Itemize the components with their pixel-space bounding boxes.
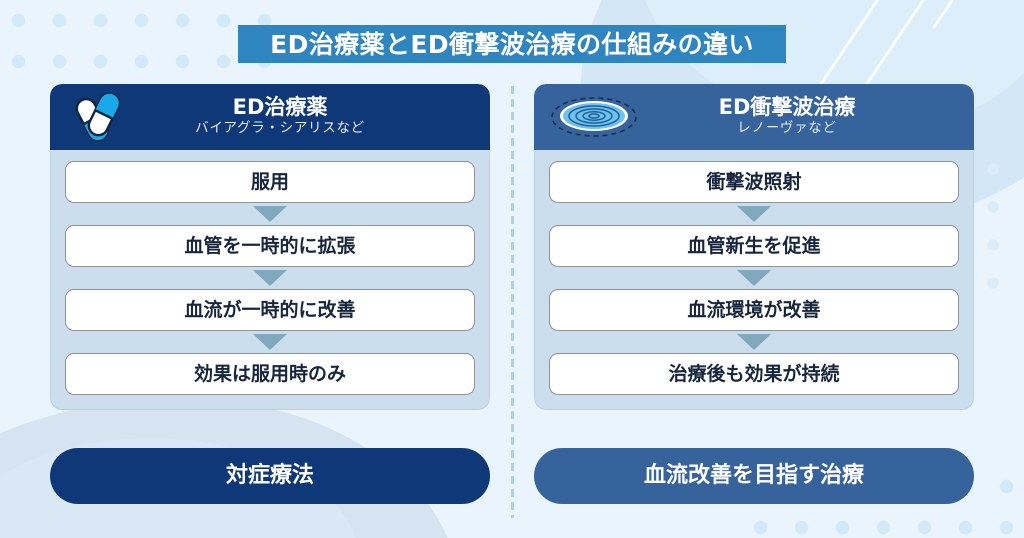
- column-body-ed-medication: 服用 血管を一時的に拡張 血流が一時的に改善 効果は服用時のみ: [50, 150, 490, 410]
- step-label: 治療後も効果が持続: [668, 365, 839, 384]
- column-header-text-ed-medication: ED治療薬 バイアグラ・シアリスなど: [130, 96, 476, 137]
- step-label: 効果は服用時のみ: [194, 365, 346, 384]
- column-header-ed-shockwave: ED衝撃波治療 レノーヴァなど: [534, 84, 974, 150]
- step-label: 服用: [251, 173, 289, 192]
- step-box: 服用: [65, 161, 475, 203]
- column-body-ed-shockwave: 衝撃波照射 血管新生を促進 血流環境が改善 治療後も効果が持続: [534, 150, 974, 410]
- arrow-down-icon: [65, 203, 475, 225]
- column-header-text-ed-shockwave: ED衝撃波治療 レノーヴァなど: [640, 96, 960, 137]
- step-label: 血流環境が改善: [687, 301, 820, 320]
- column-title-ed-medication: ED治療薬: [233, 96, 328, 119]
- conclusion-label: 対症療法: [226, 465, 314, 487]
- conclusion-ed-shockwave: 血流改善を目指す治療: [534, 448, 974, 504]
- step-label: 血流が一時的に改善: [184, 301, 355, 320]
- conclusion-label: 血流改善を目指す治療: [644, 465, 864, 487]
- arrow-down-icon: [549, 267, 959, 289]
- conclusion-ed-medication: 対症療法: [50, 448, 490, 504]
- step-box: 血流が一時的に改善: [65, 289, 475, 331]
- arrow-down-icon: [549, 331, 959, 353]
- step-box: 血流環境が改善: [549, 289, 959, 331]
- capsule-pills-icon: [64, 91, 130, 143]
- arrow-down-icon: [549, 203, 959, 225]
- column-subtitle-ed-shockwave: レノーヴァなど: [737, 119, 836, 137]
- water-ripple-icon: [548, 91, 640, 143]
- arrow-down-icon: [65, 267, 475, 289]
- column-ed-medication: ED治療薬 バイアグラ・シアリスなど 服用 血管を一時的に拡張 血流が一時的に改…: [50, 84, 490, 410]
- step-box: 血管を一時的に拡張: [65, 225, 475, 267]
- page-title-bar: ED治療薬とED衝撃波治療の仕組みの違い: [238, 25, 786, 63]
- step-label: 血管新生を促進: [687, 237, 820, 256]
- column-header-ed-medication: ED治療薬 バイアグラ・シアリスなど: [50, 84, 490, 150]
- page-title: ED治療薬とED衝撃波治療の仕組みの違い: [270, 32, 754, 57]
- step-label: 血管を一時的に拡張: [184, 237, 355, 256]
- column-subtitle-ed-medication: バイアグラ・シアリスなど: [195, 119, 365, 137]
- column-ed-shockwave: ED衝撃波治療 レノーヴァなど 衝撃波照射 血管新生を促進 血流環境が改善 治療…: [534, 84, 974, 410]
- arrow-down-icon: [65, 331, 475, 353]
- column-title-ed-shockwave: ED衝撃波治療: [719, 96, 856, 119]
- infographic-canvas: ED治療薬とED衝撃波治療の仕組みの違い: [0, 0, 1024, 538]
- step-box: 衝撃波照射: [549, 161, 959, 203]
- step-box: 血管新生を促進: [549, 225, 959, 267]
- comparison-columns: ED治療薬 バイアグラ・シアリスなど 服用 血管を一時的に拡張 血流が一時的に改…: [0, 84, 1024, 424]
- step-box: 治療後も効果が持続: [549, 353, 959, 395]
- step-label: 衝撃波照射: [706, 173, 801, 192]
- step-box: 効果は服用時のみ: [65, 353, 475, 395]
